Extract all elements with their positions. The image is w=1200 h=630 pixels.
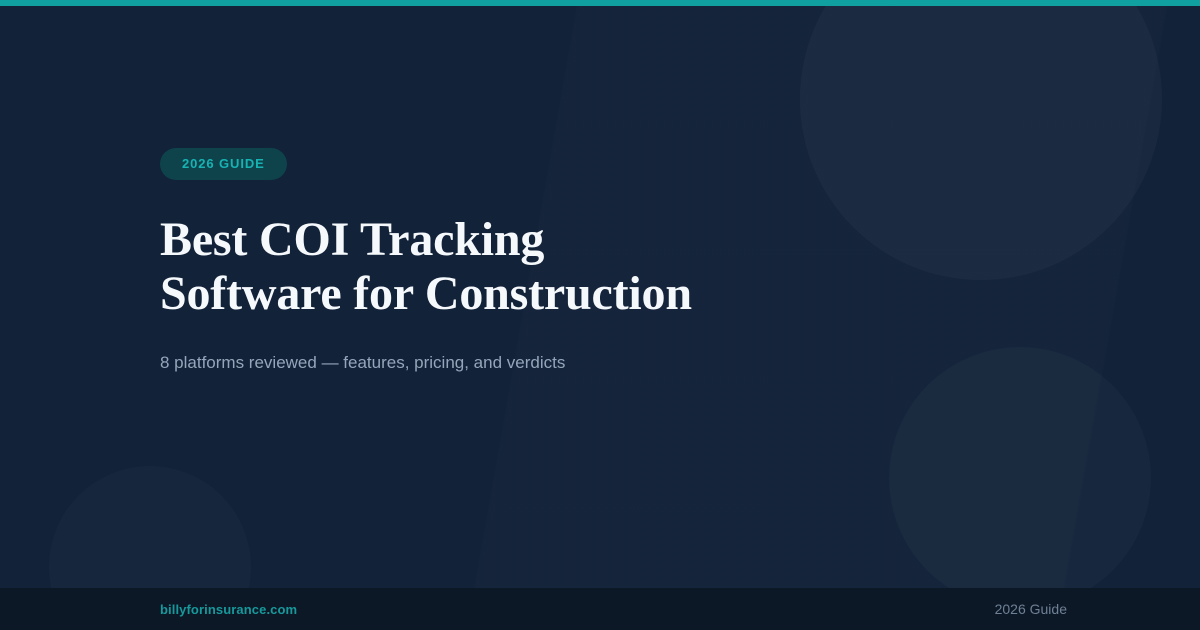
decorative-circle-bottom-right — [889, 347, 1151, 609]
footer-bar: billyforinsurance.com 2026 Guide — [0, 588, 1200, 630]
footer-meta-label: 2026 Guide — [995, 602, 1067, 616]
page-subtitle: 8 platforms reviewed — features, pricing… — [160, 351, 800, 375]
og-card: 2026 GUIDE Best COI Tracking Software fo… — [0, 0, 1200, 630]
top-accent-bar — [0, 0, 1200, 6]
page-title: Best COI Tracking Software for Construct… — [160, 213, 700, 321]
guide-year-badge: 2026 GUIDE — [160, 148, 287, 180]
hero-content: 2026 GUIDE Best COI Tracking Software fo… — [160, 148, 800, 375]
footer-domain-link[interactable]: billyforinsurance.com — [160, 603, 297, 616]
